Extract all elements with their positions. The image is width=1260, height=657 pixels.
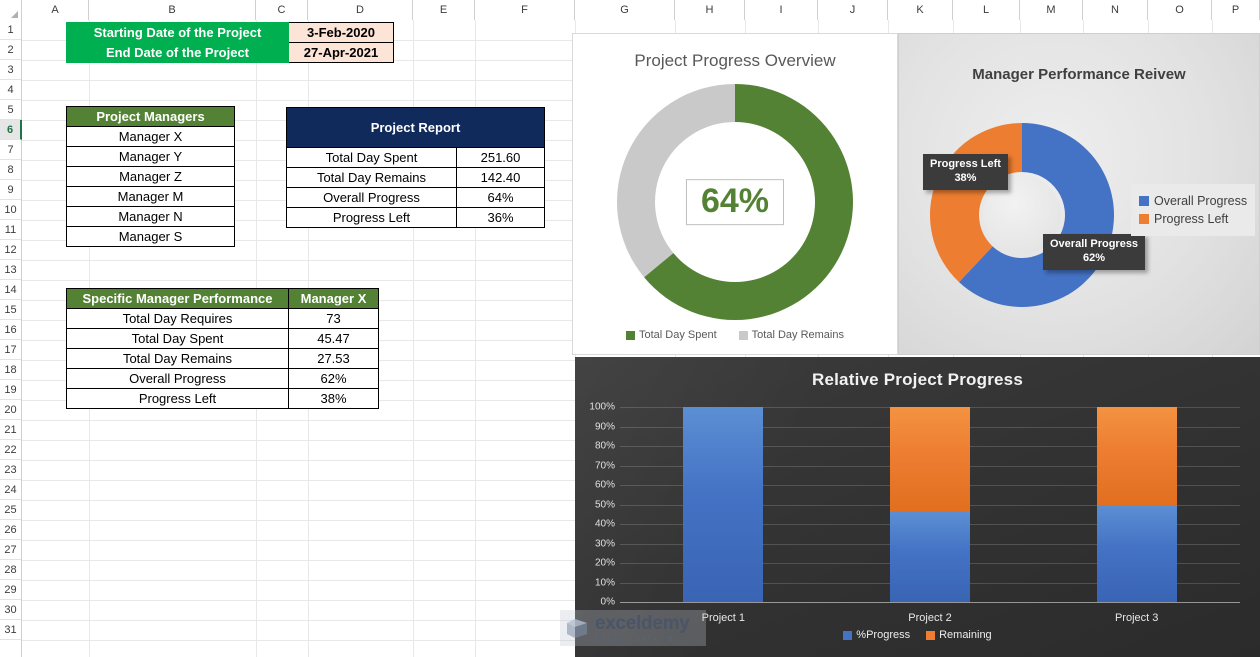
table-header-row: Specific Manager Performance Manager X <box>67 289 379 309</box>
data-label-name: Progress Left <box>930 158 1001 172</box>
smp-value: 45.47 <box>289 329 379 349</box>
row-header-6[interactable]: 6 <box>0 120 22 140</box>
chart-title: Relative Project Progress <box>575 370 1260 390</box>
bar-column[interactable]: Project 2 <box>890 407 970 602</box>
chart-legend[interactable]: Overall Progress Progress Left <box>1131 184 1255 236</box>
smp-label: Overall Progress <box>67 369 289 389</box>
row-header-14[interactable]: 14 <box>0 280 21 300</box>
bar-segment-progress[interactable] <box>1097 505 1177 603</box>
table-row[interactable]: End Date of the Project 27-Apr-2021 <box>67 43 394 63</box>
legend-swatch <box>739 331 748 340</box>
smp-header-label: Specific Manager Performance <box>67 289 289 309</box>
column-header-e[interactable]: E <box>413 0 475 20</box>
legend-swatch <box>1139 214 1149 224</box>
row-header-22[interactable]: 22 <box>0 440 21 460</box>
y-axis-tick: 40% <box>595 519 615 530</box>
column-header-i[interactable]: I <box>745 0 818 20</box>
specific-manager-performance-table: Specific Manager Performance Manager X T… <box>66 288 379 409</box>
manager-name: Manager N <box>67 207 235 227</box>
column-header-n[interactable]: N <box>1083 0 1148 20</box>
report-label: Total Day Remains <box>287 168 457 188</box>
bar-segment-remaining[interactable] <box>1097 407 1177 505</box>
report-label: Total Day Spent <box>287 148 457 168</box>
table-row[interactable]: Overall Progress 64% <box>287 188 545 208</box>
row-header-13[interactable]: 13 <box>0 260 21 280</box>
data-label-value: 62% <box>1050 252 1138 266</box>
table-row[interactable]: Total Day Remains 27.53 <box>67 349 379 369</box>
table-row[interactable]: Total Day Spent 251.60 <box>287 148 545 168</box>
column-header-a[interactable]: A <box>22 0 89 20</box>
end-date-label: End Date of the Project <box>67 43 289 63</box>
legend-swatch <box>1139 196 1149 206</box>
report-value: 64% <box>457 188 545 208</box>
row-header-8[interactable]: 8 <box>0 160 21 180</box>
row-header-column: 1234567891011121314151617181920212223242… <box>0 20 22 657</box>
column-header-k[interactable]: K <box>888 0 953 20</box>
smp-label: Total Day Requires <box>67 309 289 329</box>
start-date-value: 3-Feb-2020 <box>289 23 394 43</box>
row-header-5[interactable]: 5 <box>0 100 21 120</box>
project-report-title: Project Report <box>287 108 545 148</box>
row-header-3[interactable]: 3 <box>0 60 21 80</box>
smp-header-value: Manager X <box>289 289 379 309</box>
y-axis-tick: 60% <box>595 480 615 491</box>
manager-name: Manager M <box>67 187 235 207</box>
manager-name: Manager Z <box>67 167 235 187</box>
row-header-9[interactable]: 9 <box>0 180 21 200</box>
column-header-row: ABCDEFGHIJKLMNOP <box>0 0 1260 20</box>
table-row[interactable]: Starting Date of the Project 3-Feb-2020 <box>67 23 394 43</box>
bar-chart-plot-area[interactable]: 0%10%20%30%40%50%60%70%80%90%100%Project… <box>620 407 1240 602</box>
row-header-11[interactable]: 11 <box>0 220 21 240</box>
row-header-15[interactable]: 15 <box>0 300 21 320</box>
row-header-26[interactable]: 26 <box>0 520 21 540</box>
y-axis-tick: 30% <box>595 538 615 549</box>
smp-value: 73 <box>289 309 379 329</box>
legend-item-progress-left[interactable]: Progress Left <box>1139 212 1247 226</box>
bar-segment-progress[interactable] <box>683 407 763 602</box>
y-axis-tick: 50% <box>595 499 615 510</box>
legend-swatch <box>926 631 935 640</box>
table-row[interactable]: Total Day Requires 73 <box>67 309 379 329</box>
legend-swatch <box>843 631 852 640</box>
y-axis-tick: 20% <box>595 558 615 569</box>
chart-title: Manager Performance Reivew <box>899 66 1259 83</box>
y-axis-tick: 100% <box>589 402 615 413</box>
x-axis-label: Project 3 <box>1115 612 1158 624</box>
column-header-c[interactable]: C <box>256 0 308 20</box>
row-header-16[interactable]: 16 <box>0 320 21 340</box>
excel-dashboard-sheet: ABCDEFGHIJKLMNOP 12345678910111213141516… <box>0 0 1260 657</box>
row-header-12[interactable]: 12 <box>0 240 21 260</box>
manager-name: Manager S <box>67 227 235 247</box>
chart-manager-performance-reivew[interactable]: Manager Performance Reivew Progress Left… <box>898 33 1260 355</box>
smp-label: Total Day Remains <box>67 349 289 369</box>
legend-item-overall-progress[interactable]: Overall Progress <box>1139 194 1247 208</box>
chart-project-progress-overview[interactable]: Project Progress Overview 64% Total Day … <box>572 33 898 355</box>
report-label: Progress Left <box>287 208 457 228</box>
row-header-1[interactable]: 1 <box>0 20 21 40</box>
table-row[interactable]: Total Day Remains 142.40 <box>287 168 545 188</box>
row-header-27[interactable]: 27 <box>0 540 21 560</box>
legend-item-total-day-spent[interactable]: Total Day Spent <box>626 329 717 341</box>
row-header-28[interactable]: 28 <box>0 560 21 580</box>
data-label-value: 38% <box>930 172 1001 186</box>
legend-label: Total Day Spent <box>639 329 717 341</box>
chart-relative-project-progress[interactable]: Relative Project Progress 0%10%20%30%40%… <box>575 357 1260 657</box>
row-header-2[interactable]: 2 <box>0 40 21 60</box>
legend-item-remaining[interactable]: Remaining <box>926 629 992 641</box>
table-row[interactable]: Manager N <box>67 207 235 227</box>
legend-label: Overall Progress <box>1154 194 1247 208</box>
x-axis-line <box>620 602 1240 603</box>
chart-legend[interactable]: %Progress Remaining <box>575 629 1260 641</box>
row-header-24[interactable]: 24 <box>0 480 21 500</box>
column-header-j[interactable]: J <box>818 0 888 20</box>
bar-column[interactable]: Project 3 <box>1097 407 1177 602</box>
data-label-name: Overall Progress <box>1050 238 1138 252</box>
overall-progress-value: 64% <box>701 182 769 220</box>
y-axis-tick: 0% <box>601 597 615 608</box>
table-row[interactable]: Manager Z <box>67 167 235 187</box>
report-value: 142.40 <box>457 168 545 188</box>
bar-segment-remaining[interactable] <box>890 407 970 512</box>
y-axis-tick: 10% <box>595 577 615 588</box>
table-row[interactable]: Manager X <box>67 127 235 147</box>
row-header-29[interactable]: 29 <box>0 580 21 600</box>
row-header-21[interactable]: 21 <box>0 420 21 440</box>
legend-label: Progress Left <box>1154 212 1228 226</box>
table-row[interactable]: Manager S <box>67 227 235 247</box>
project-managers-table: Project Managers Manager X Manager Y Man… <box>66 106 235 247</box>
select-all-corner[interactable] <box>0 0 22 20</box>
column-header-b[interactable]: B <box>89 0 256 20</box>
column-header-g[interactable]: G <box>575 0 675 20</box>
data-label-overall-progress: Overall Progress 62% <box>1043 234 1145 270</box>
column-header-f[interactable]: F <box>475 0 575 20</box>
row-header-25[interactable]: 25 <box>0 500 21 520</box>
table-row[interactable]: Total Day Spent 45.47 <box>67 329 379 349</box>
smp-label: Progress Left <box>67 389 289 409</box>
row-header-18[interactable]: 18 <box>0 360 21 380</box>
y-axis-tick: 70% <box>595 460 615 471</box>
legend-label: Total Day Remains <box>752 329 844 341</box>
start-date-label: Starting Date of the Project <box>67 23 289 43</box>
table-row[interactable]: Manager M <box>67 187 235 207</box>
smp-value: 62% <box>289 369 379 389</box>
row-header-31[interactable]: 31 <box>0 620 21 640</box>
end-date-value: 27-Apr-2021 <box>289 43 394 63</box>
data-label-progress-left: Progress Left 38% <box>923 154 1008 190</box>
smp-value: 27.53 <box>289 349 379 369</box>
row-header-30[interactable]: 30 <box>0 600 21 620</box>
x-axis-label: Project 1 <box>702 612 745 624</box>
project-report-table: Project Report Total Day Spent 251.60 To… <box>286 107 545 228</box>
column-header-m[interactable]: M <box>1020 0 1083 20</box>
donut-chart[interactable] <box>929 122 1115 308</box>
column-header-d[interactable]: D <box>308 0 413 20</box>
legend-label: %Progress <box>856 629 910 641</box>
table-header-row: Project Report <box>287 108 545 148</box>
manager-name: Manager X <box>67 127 235 147</box>
bar-segment-progress[interactable] <box>890 512 970 602</box>
row-header-17[interactable]: 17 <box>0 340 21 360</box>
x-axis-label: Project 2 <box>908 612 951 624</box>
table-header-row: Project Managers <box>67 107 235 127</box>
report-value: 251.60 <box>457 148 545 168</box>
y-axis-tick: 90% <box>595 421 615 432</box>
bar-column[interactable]: Project 1 <box>683 407 763 602</box>
smp-value: 38% <box>289 389 379 409</box>
legend-item-progress[interactable]: %Progress <box>843 629 910 641</box>
manager-name: Manager Y <box>67 147 235 167</box>
column-header-p[interactable]: P <box>1212 0 1260 20</box>
donut-center-callout: 64% <box>686 179 784 225</box>
row-header-4[interactable]: 4 <box>0 80 21 100</box>
donut-chart[interactable]: 64% <box>615 82 855 322</box>
smp-label: Total Day Spent <box>67 329 289 349</box>
column-header-l[interactable]: L <box>953 0 1020 20</box>
legend-item-total-day-remains[interactable]: Total Day Remains <box>739 329 844 341</box>
table-row[interactable]: Overall Progress 62% <box>67 369 379 389</box>
legend-swatch <box>626 331 635 340</box>
row-header-23[interactable]: 23 <box>0 460 21 480</box>
row-header-7[interactable]: 7 <box>0 140 21 160</box>
table-row[interactable]: Progress Left 38% <box>67 389 379 409</box>
chart-legend[interactable]: Total Day Spent Total Day Remains <box>573 329 897 341</box>
column-header-o[interactable]: O <box>1148 0 1212 20</box>
project-dates-table: Starting Date of the Project 3-Feb-2020 … <box>66 22 394 63</box>
table-row[interactable]: Manager Y <box>67 147 235 167</box>
report-value: 36% <box>457 208 545 228</box>
project-managers-header: Project Managers <box>67 107 235 127</box>
chart-title: Project Progress Overview <box>573 51 897 71</box>
report-label: Overall Progress <box>287 188 457 208</box>
column-header-h[interactable]: H <box>675 0 745 20</box>
row-header-10[interactable]: 10 <box>0 200 21 220</box>
table-row[interactable]: Progress Left 36% <box>287 208 545 228</box>
y-axis-tick: 80% <box>595 441 615 452</box>
row-header-20[interactable]: 20 <box>0 400 21 420</box>
row-header-19[interactable]: 19 <box>0 380 21 400</box>
legend-label: Remaining <box>939 629 992 641</box>
